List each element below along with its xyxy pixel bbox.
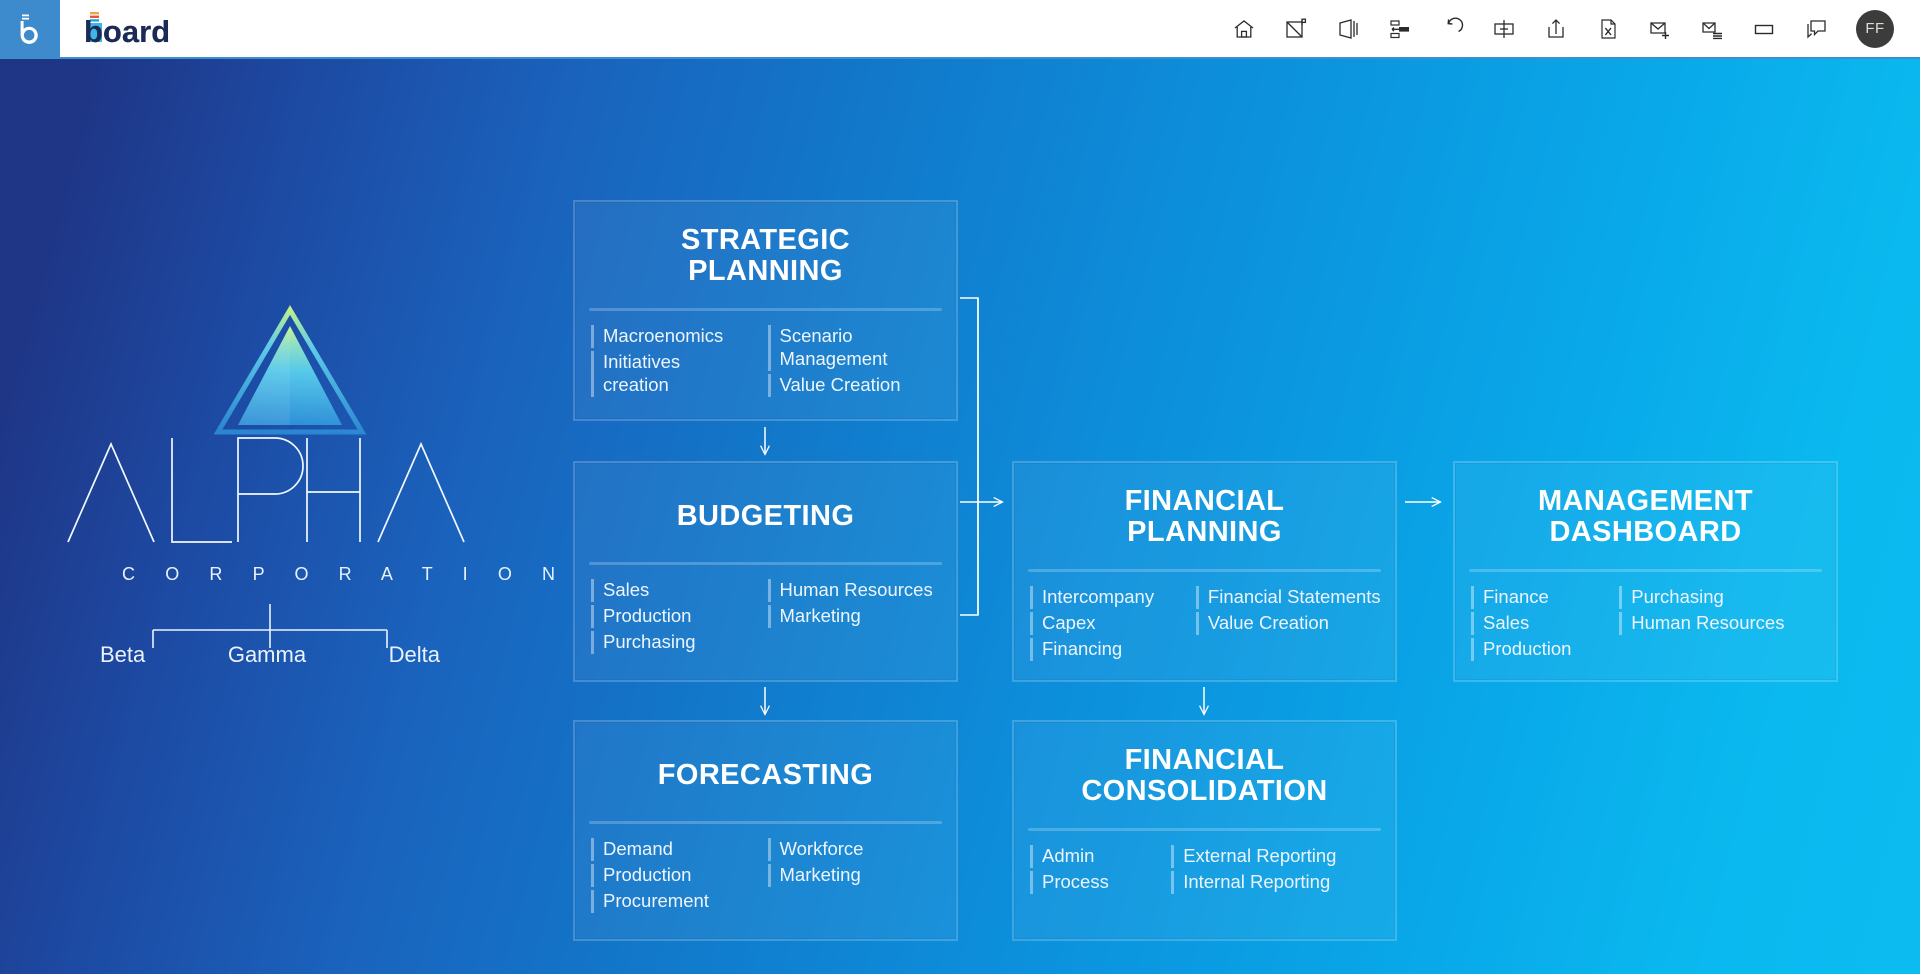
item-label: Human Resources bbox=[780, 579, 933, 602]
list-item[interactable]: Value Creation bbox=[1194, 612, 1381, 635]
list-item[interactable]: Production bbox=[589, 864, 766, 887]
item-bar bbox=[591, 864, 594, 887]
subsidiary-delta: Delta bbox=[389, 642, 440, 668]
items-right: Workforce Marketing bbox=[766, 838, 943, 916]
box-title: FINANCIAL PLANNING bbox=[1014, 463, 1395, 547]
list-item[interactable]: Demand bbox=[589, 838, 766, 861]
item-label: Financial Statements bbox=[1208, 586, 1381, 609]
mail-list-icon[interactable] bbox=[1686, 3, 1738, 55]
list-item[interactable]: Workforce bbox=[766, 838, 943, 861]
box-title: MANAGEMENT DASHBOARD bbox=[1455, 463, 1836, 547]
item-bar bbox=[1171, 871, 1174, 894]
list-item[interactable]: Production bbox=[1469, 638, 1617, 661]
item-bar bbox=[1030, 845, 1033, 868]
item-bar bbox=[591, 631, 594, 654]
item-label: Macroenomics bbox=[603, 325, 723, 348]
items-left: Sales Production Purchasing bbox=[589, 579, 766, 657]
items-right: Financial Statements Value Creation bbox=[1194, 586, 1381, 664]
item-label: Workforce bbox=[780, 838, 864, 861]
item-bar bbox=[768, 864, 771, 887]
list-item[interactable]: Marketing bbox=[766, 864, 943, 887]
list-item[interactable]: Procurement bbox=[589, 890, 766, 913]
list-item[interactable]: Finance bbox=[1469, 586, 1617, 609]
presentation-icon[interactable] bbox=[1322, 3, 1374, 55]
item-label: Purchasing bbox=[1631, 586, 1724, 609]
item-bar bbox=[768, 325, 771, 371]
svg-text:oard: oard bbox=[103, 14, 170, 49]
item-bar bbox=[768, 605, 771, 628]
toolbar: FF bbox=[1218, 0, 1920, 58]
item-bar bbox=[1030, 612, 1033, 635]
avatar-initials: FF bbox=[1865, 20, 1884, 37]
list-item[interactable]: Sales bbox=[589, 579, 766, 602]
item-bar bbox=[1171, 845, 1174, 868]
item-label: Internal Reporting bbox=[1183, 871, 1330, 894]
box-items: Intercompany Capex Financing Financial S… bbox=[1014, 572, 1395, 664]
company-suffix: C O R P O R A T I O N bbox=[122, 564, 568, 585]
company-logo-block: C O R P O R A T I O N Beta Gamma Delta bbox=[60, 304, 480, 644]
box-items: Admin Process External Reporting Interna… bbox=[1014, 831, 1395, 897]
item-label: Sales bbox=[1483, 612, 1529, 635]
box-title: BUDGETING bbox=[575, 463, 956, 532]
item-bar bbox=[768, 374, 771, 397]
item-label: Production bbox=[1483, 638, 1571, 661]
item-bar bbox=[1196, 612, 1199, 635]
list-item[interactable]: Purchasing bbox=[589, 631, 766, 654]
item-label: Value Creation bbox=[1208, 612, 1329, 635]
items-left: Intercompany Capex Financing bbox=[1028, 586, 1194, 664]
alpha-wordmark bbox=[60, 426, 480, 561]
item-bar bbox=[1030, 638, 1033, 661]
triangle-logo-icon bbox=[210, 304, 370, 439]
item-label: Sales bbox=[603, 579, 649, 602]
items-right: External Reporting Internal Reporting bbox=[1169, 845, 1381, 897]
item-bar bbox=[591, 325, 594, 348]
list-item[interactable]: Marketing bbox=[766, 605, 943, 628]
item-label: Marketing bbox=[780, 605, 861, 628]
item-bar bbox=[1471, 638, 1474, 661]
box-financial-planning[interactable]: FINANCIAL PLANNING Intercompany Capex Fi… bbox=[1012, 461, 1397, 682]
diagram-canvas: C O R P O R A T I O N Beta Gamma Delta bbox=[0, 59, 1920, 974]
mail-add-icon[interactable] bbox=[1634, 3, 1686, 55]
brand-wordmark: board board b oard bbox=[84, 0, 206, 58]
box-forecasting[interactable]: FORECASTING Demand Production Procuremen… bbox=[573, 720, 958, 941]
item-label: Production bbox=[603, 864, 691, 887]
items-left: Admin Process bbox=[1028, 845, 1169, 897]
share-icon[interactable] bbox=[1530, 3, 1582, 55]
items-left: Macroenomics Initiatives creation bbox=[589, 325, 766, 400]
box-items: Demand Production Procurement Workforce bbox=[575, 824, 956, 916]
list-item[interactable]: Financing bbox=[1028, 638, 1194, 661]
subsidiary-beta: Beta bbox=[100, 642, 145, 668]
list-item[interactable]: Financial Statements bbox=[1194, 586, 1381, 609]
box-items: Sales Production Purchasing Human Resour… bbox=[575, 565, 956, 657]
item-bar bbox=[1471, 586, 1474, 609]
list-item[interactable]: External Reporting bbox=[1169, 845, 1381, 868]
box-title: STRATEGIC PLANNING bbox=[575, 202, 956, 286]
list-item[interactable]: Process bbox=[1028, 871, 1169, 894]
list-item[interactable]: Production bbox=[589, 605, 766, 628]
item-label: Procurement bbox=[603, 890, 709, 913]
list-item[interactable]: Admin bbox=[1028, 845, 1169, 868]
item-bar bbox=[591, 838, 594, 861]
item-label: Intercompany bbox=[1042, 586, 1154, 609]
list-item[interactable]: Sales bbox=[1469, 612, 1617, 635]
items-left: Finance Sales Production bbox=[1469, 586, 1617, 664]
box-budgeting[interactable]: BUDGETING Sales Production Purchasing bbox=[573, 461, 958, 682]
box-title: FINANCIAL CONSOLIDATION bbox=[1014, 722, 1395, 806]
item-bar bbox=[768, 579, 771, 602]
list-item[interactable]: Purchasing bbox=[1617, 586, 1822, 609]
item-label: Scenario Management bbox=[780, 325, 888, 371]
item-label: Initiatives creation bbox=[603, 351, 680, 397]
list-item[interactable]: Initiatives creation bbox=[589, 351, 766, 397]
item-bar bbox=[1196, 586, 1199, 609]
item-bar bbox=[591, 351, 594, 397]
item-label: Value Creation bbox=[780, 374, 901, 397]
list-item[interactable]: Value Creation bbox=[766, 374, 943, 397]
item-bar bbox=[1619, 612, 1622, 635]
list-item[interactable]: Macroenomics bbox=[589, 325, 766, 348]
item-bar bbox=[591, 605, 594, 628]
items-right: Scenario Management Value Creation bbox=[766, 325, 943, 400]
item-bar bbox=[1471, 612, 1474, 635]
item-label: Capex bbox=[1042, 612, 1095, 635]
item-label: Marketing bbox=[780, 864, 861, 887]
undo-icon[interactable] bbox=[1426, 3, 1478, 55]
box-items: Finance Sales Production Purchasing bbox=[1455, 572, 1836, 664]
item-bar bbox=[591, 890, 594, 913]
list-item[interactable]: Intercompany bbox=[1028, 586, 1194, 609]
list-item[interactable]: Capex bbox=[1028, 612, 1194, 635]
item-bar bbox=[1619, 586, 1622, 609]
box-title: FORECASTING bbox=[575, 722, 956, 791]
svg-text:b: b bbox=[84, 14, 103, 49]
box-strategic-planning[interactable]: STRATEGIC PLANNING Macroenomics Initiati… bbox=[573, 200, 958, 421]
item-bar bbox=[1030, 871, 1033, 894]
item-label: Financing bbox=[1042, 638, 1122, 661]
items-left: Demand Production Procurement bbox=[589, 838, 766, 916]
item-label: Demand bbox=[603, 838, 673, 861]
subsidiary-gamma: Gamma bbox=[228, 642, 306, 668]
bus-left-column bbox=[960, 298, 978, 615]
item-bar bbox=[768, 838, 771, 861]
item-label: Production bbox=[603, 605, 691, 628]
box-financial-consolidation[interactable]: FINANCIAL CONSOLIDATION Admin Process Ex… bbox=[1012, 720, 1397, 941]
box-items: Macroenomics Initiatives creation Scenar… bbox=[575, 311, 956, 400]
avatar[interactable]: FF bbox=[1856, 10, 1894, 48]
item-bar bbox=[1030, 586, 1033, 609]
item-label: Admin bbox=[1042, 845, 1094, 868]
list-item[interactable]: Scenario Management bbox=[766, 325, 943, 371]
excel-export-icon[interactable] bbox=[1582, 3, 1634, 55]
box-management-dashboard[interactable]: MANAGEMENT DASHBOARD Finance Sales Produ… bbox=[1453, 461, 1838, 682]
item-label: External Reporting bbox=[1183, 845, 1336, 868]
insert-object-icon[interactable] bbox=[1478, 3, 1530, 55]
item-label: Human Resources bbox=[1631, 612, 1784, 635]
screen-icon[interactable] bbox=[1738, 3, 1790, 55]
item-label: Finance bbox=[1483, 586, 1549, 609]
item-bar bbox=[591, 579, 594, 602]
items-right: Purchasing Human Resources bbox=[1617, 586, 1822, 664]
comment-icon[interactable] bbox=[1790, 3, 1842, 55]
design-icon[interactable] bbox=[1270, 3, 1322, 55]
list-item[interactable]: Internal Reporting bbox=[1169, 871, 1381, 894]
list-item[interactable]: Human Resources bbox=[1617, 612, 1822, 635]
align-icon[interactable] bbox=[1374, 3, 1426, 55]
subsidiary-labels: Beta Gamma Delta bbox=[100, 642, 440, 668]
item-label: Process bbox=[1042, 871, 1109, 894]
item-label: Purchasing bbox=[603, 631, 696, 654]
list-item[interactable]: Human Resources bbox=[766, 579, 943, 602]
brand-mark-button[interactable] bbox=[0, 0, 60, 58]
home-icon[interactable] bbox=[1218, 3, 1270, 55]
items-right: Human Resources Marketing bbox=[766, 579, 943, 657]
app-header: board board b oard bbox=[0, 0, 1920, 59]
